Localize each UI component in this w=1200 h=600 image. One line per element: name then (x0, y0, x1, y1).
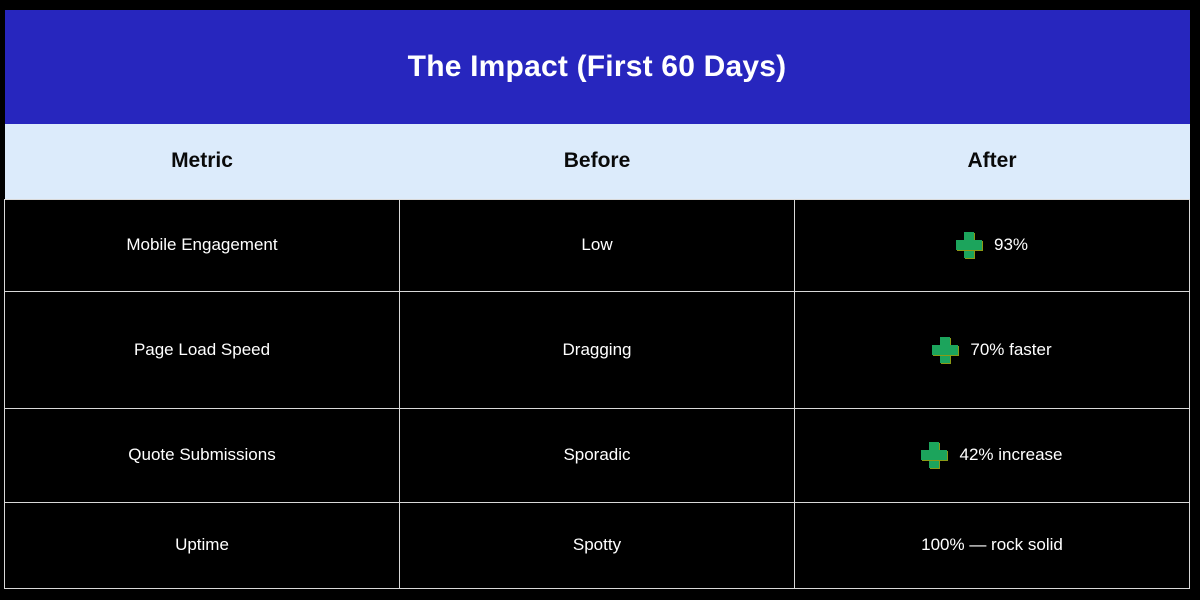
column-header-before: Before (400, 124, 795, 199)
after-value: 70% faster (970, 340, 1051, 360)
impact-results-table: The Impact (First 60 Days) Metric Before… (4, 10, 1190, 589)
cell-before-quote-submissions: Sporadic (400, 408, 795, 502)
cell-metric-uptime: Uptime (5, 502, 400, 588)
cell-after-uptime: 100% — rock solid (795, 502, 1190, 588)
table-row: Uptime Spotty 100% — rock solid (5, 502, 1190, 588)
after-value: 42% increase (959, 445, 1062, 465)
after-content: 100% — rock solid (795, 535, 1189, 555)
cell-after-mobile-engagement: 93% (795, 199, 1190, 291)
table-row: Page Load Speed Dragging 70% faster (5, 291, 1190, 408)
page-canvas: The Impact (First 60 Days) Metric Before… (0, 0, 1200, 600)
page-title: The Impact (First 60 Days) (408, 50, 787, 83)
table-row: Quote Submissions Sporadic 42% increase (5, 408, 1190, 502)
cell-before-page-load-speed: Dragging (400, 291, 795, 408)
cell-after-page-load-speed: 70% faster (795, 291, 1190, 408)
column-header-metric: Metric (5, 124, 400, 199)
cell-before-uptime: Spotty (400, 502, 795, 588)
table-head: The Impact (First 60 Days) Metric Before… (5, 10, 1190, 199)
after-value: 100% — rock solid (921, 535, 1063, 555)
after-content: 93% (795, 232, 1189, 258)
cell-after-quote-submissions: 42% increase (795, 408, 1190, 502)
title-banner: The Impact (First 60 Days) (5, 10, 1190, 124)
green-plus-icon (921, 442, 947, 468)
column-header-after: After (795, 124, 1190, 199)
after-content: 70% faster (795, 337, 1189, 363)
after-value: 93% (994, 235, 1028, 255)
title-banner-row: The Impact (First 60 Days) (5, 10, 1190, 124)
table-row: Mobile Engagement Low 93% (5, 199, 1190, 291)
cell-metric-page-load-speed: Page Load Speed (5, 291, 400, 408)
table-body: Mobile Engagement Low 93% Page Load Spee… (5, 199, 1190, 588)
column-header-row: Metric Before After (5, 124, 1190, 199)
cell-metric-mobile-engagement: Mobile Engagement (5, 199, 400, 291)
cell-metric-quote-submissions: Quote Submissions (5, 408, 400, 502)
green-plus-icon (932, 337, 958, 363)
after-content: 42% increase (795, 442, 1189, 468)
green-plus-icon (956, 232, 982, 258)
cell-before-mobile-engagement: Low (400, 199, 795, 291)
